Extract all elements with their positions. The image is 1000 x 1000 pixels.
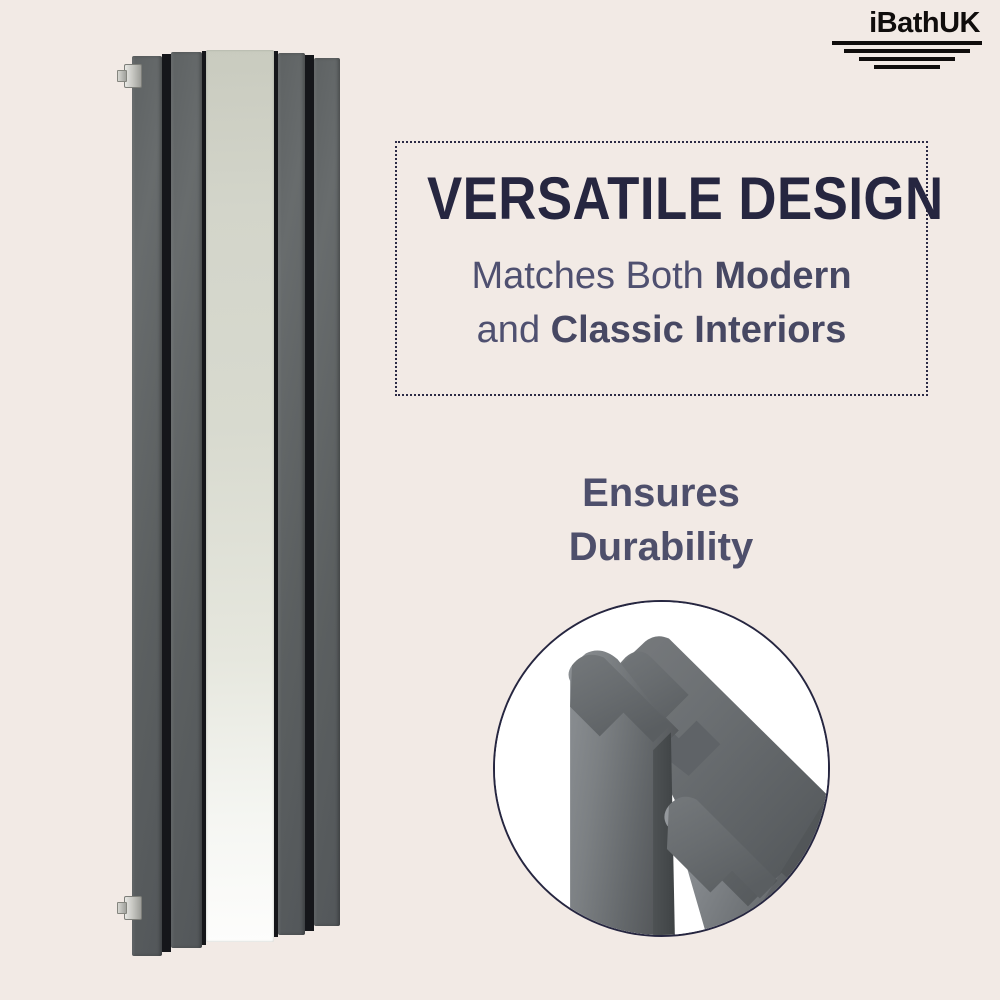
subheading-line2-regular: and [477, 309, 551, 351]
brand-logo: iBathUK [832, 8, 982, 69]
radiator-gap-4 [305, 55, 314, 931]
brand-rule-1 [832, 41, 982, 45]
radiator-panel-2 [171, 52, 202, 948]
radiator-panel-1 [132, 56, 162, 956]
subheading: Matches Both Modern and Classic Interior… [395, 250, 928, 358]
radiator-closeup-illustration [495, 602, 828, 935]
secondary-heading: Ensures Durability [461, 466, 861, 574]
radiator-mirror-panel [206, 50, 274, 942]
product-radiator-image [128, 44, 336, 964]
poster-canvas: iBathUK VERSATILE DESIGN Matches Both [0, 0, 1000, 1000]
brand-name: iBathUK [832, 8, 982, 38]
radiator-valve-bottom-stub [117, 902, 127, 914]
subheading-line2-bold: Classic Interiors [551, 309, 847, 351]
brand-rule-2 [844, 49, 970, 53]
detail-photo-circle [493, 600, 830, 937]
brand-rule-3 [859, 57, 955, 61]
subheading-line1-regular: Matches Both [471, 255, 714, 297]
brand-rule-stack [832, 41, 982, 69]
radiator-panel-3 [278, 53, 305, 935]
subheading-line1-bold: Modern [714, 255, 851, 297]
radiator-gap-1 [162, 54, 171, 952]
secondary-heading-line2: Durability [569, 525, 753, 569]
secondary-heading-line1: Ensures [582, 471, 740, 515]
page-title: VERSATILE DESIGN [427, 164, 896, 233]
radiator-panel-4 [314, 58, 340, 926]
radiator-valve-top-stub [117, 70, 127, 82]
brand-rule-4 [874, 65, 940, 69]
